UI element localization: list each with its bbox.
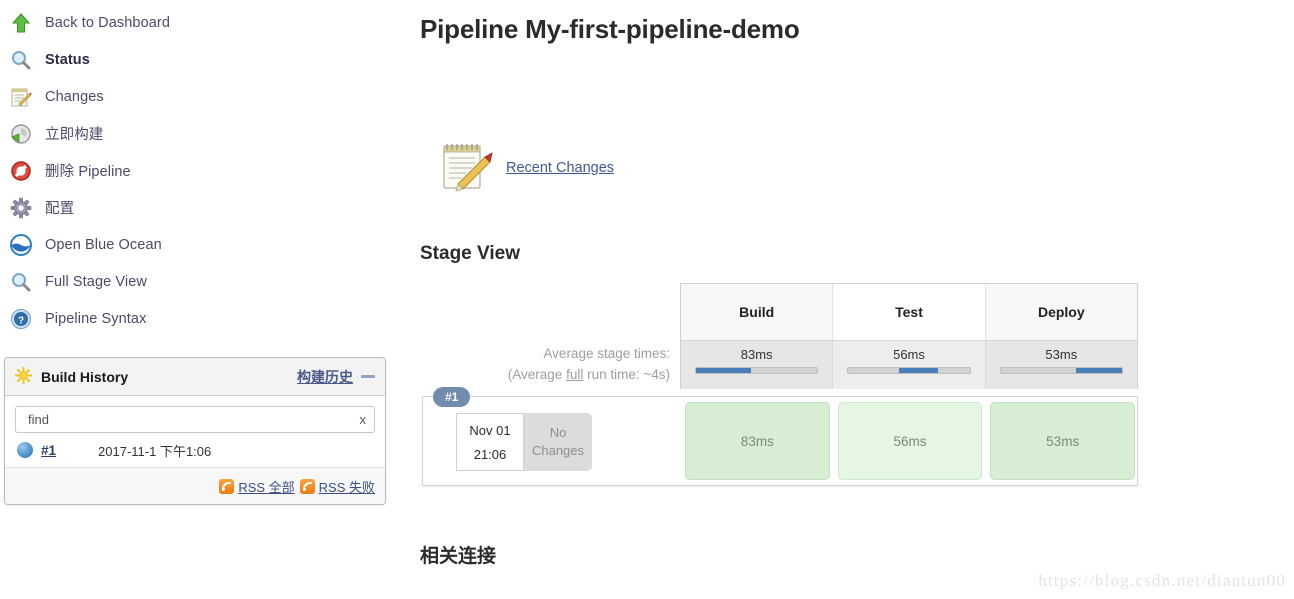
sidebar-item-label: 立即构建 [45, 123, 103, 144]
svg-text:?: ? [18, 315, 24, 326]
sidebar-item-delete-pipeline[interactable]: 删除 Pipeline [4, 152, 390, 189]
build-history-body: x #1 2017-11-1 下午1:06 [5, 396, 385, 468]
notepad-pencil-icon [8, 84, 34, 110]
sidebar-item-build-now[interactable]: 立即构建 [4, 115, 390, 152]
build-status-ball-icon [17, 442, 33, 458]
build-history-cn-link[interactable]: 构建历史 [297, 367, 353, 387]
delete-prohibited-icon [8, 158, 34, 184]
main-content: Pipeline My-first-pipeline-demo [420, 0, 1294, 599]
sidebar-item-label: Changes [45, 89, 104, 105]
page-title: Pipeline My-first-pipeline-demo [420, 14, 1294, 45]
notepad-pencil-icon [440, 140, 494, 195]
stage-header-row: Build Test Deploy [681, 284, 1137, 340]
no-changes-line2: Changes [532, 442, 584, 460]
stage-header-deploy[interactable]: Deploy [986, 284, 1137, 340]
build-history-footer: RSS 全部 RSS 失败 [5, 468, 385, 504]
rss-icon [300, 479, 315, 494]
rss-failed-link[interactable]: RSS 失败 [300, 477, 375, 496]
sidebar-item-label: 配置 [45, 197, 74, 218]
average-bar-fill [696, 368, 751, 373]
average-bar [1000, 367, 1123, 374]
magnifier-icon [8, 269, 34, 295]
average-value: 53ms [1000, 347, 1123, 362]
average-stage-times-label: Average stage times: [420, 343, 670, 364]
sidebar-item-label: 删除 Pipeline [45, 160, 131, 181]
build-history-header-actions: 构建历史 [297, 367, 375, 387]
find-input[interactable] [26, 411, 364, 428]
average-cell-build: 83ms [681, 341, 833, 389]
average-times-row: 83ms 56ms 53ms [681, 340, 1137, 389]
build-history-title: Build History [41, 369, 128, 385]
sidebar-item-open-blue-ocean[interactable]: Open Blue Ocean [4, 226, 390, 263]
average-bar [695, 367, 818, 374]
sidebar-item-label: Status [45, 52, 90, 68]
stage-cells: 83ms 56ms 53ms [681, 397, 1139, 485]
average-value: 83ms [695, 347, 818, 362]
sidebar-item-full-stage-view[interactable]: Full Stage View [4, 263, 390, 300]
stage-header-test[interactable]: Test [833, 284, 985, 340]
related-links-title: 相关连接 [420, 541, 496, 568]
sidebar-item-label: Back to Dashboard [45, 15, 170, 31]
build-date: Nov 01 [469, 423, 510, 438]
stage-cell-deploy[interactable]: 53ms [990, 402, 1135, 480]
stage-view: Average stage times: (Average full run t… [420, 283, 1138, 503]
magnifier-icon [8, 47, 34, 73]
sidebar-item-status[interactable]: Status [4, 41, 390, 78]
stage-cell-build[interactable]: 83ms [685, 402, 830, 480]
average-bar-fill [1076, 368, 1122, 373]
build-number-link[interactable]: #1 [41, 443, 56, 458]
watermark: https://blog.csdn.net/diantun00 [1038, 571, 1286, 591]
rss-failed-label: RSS 失败 [319, 477, 375, 496]
average-bar [847, 367, 970, 374]
sidebar-item-label: Pipeline Syntax [45, 311, 146, 327]
average-cell-deploy: 53ms [986, 341, 1137, 389]
average-full-run-time-label: (Average full run time: ~4s) [420, 364, 670, 385]
sidebar-item-pipeline-syntax[interactable]: ? Pipeline Syntax [4, 300, 390, 337]
average-stage-times-labels: Average stage times: (Average full run t… [420, 343, 670, 385]
recent-changes-link[interactable]: Recent Changes [506, 160, 614, 176]
up-arrow-icon [8, 10, 34, 36]
build-date: 2017-11-1 下午1:06 [98, 441, 211, 460]
build-history-find-wrapper[interactable]: x [15, 406, 375, 433]
stage-view-title: Stage View [420, 243, 1294, 265]
build-number-badge[interactable]: #1 [433, 387, 470, 407]
stage-grid: Build Test Deploy 83ms 56ms 53ms [680, 283, 1138, 389]
stage-cell-test[interactable]: 56ms [838, 402, 983, 480]
sidebar-item-label: Open Blue Ocean [45, 237, 162, 253]
rss-icon [219, 479, 234, 494]
collapse-icon[interactable] [361, 375, 375, 378]
average-value: 56ms [847, 347, 970, 362]
stage-header-build[interactable]: Build [681, 284, 833, 340]
build-datetime-box[interactable]: Nov 01 21:06 [456, 413, 524, 471]
no-changes-box[interactable]: No Changes [524, 413, 592, 471]
gear-icon [8, 195, 34, 221]
build-history-row[interactable]: #1 2017-11-1 下午1:06 [15, 433, 375, 467]
average-cell-test: 56ms [833, 341, 985, 389]
build-run-row: #1 Nov 01 21:06 No Changes 83ms 56ms 53m… [422, 396, 1138, 486]
build-time: 21:06 [474, 447, 507, 462]
sidebar-item-back-to-dashboard[interactable]: Back to Dashboard [4, 4, 390, 41]
clear-find-button[interactable]: x [360, 412, 367, 427]
sidebar-item-changes[interactable]: Changes [4, 78, 390, 115]
sidebar: Back to Dashboard Status Changes 立即构建 删除 [0, 0, 390, 599]
build-history-header: Build History 构建历史 [5, 358, 385, 396]
average-bar-fill [899, 368, 938, 373]
blue-ocean-icon [8, 232, 34, 258]
build-now-icon [8, 121, 34, 147]
weather-sun-icon [15, 367, 32, 387]
rss-all-link[interactable]: RSS 全部 [219, 477, 294, 496]
build-history-panel: Build History 构建历史 x #1 2017-11-1 下午1:06… [4, 357, 386, 505]
sidebar-item-label: Full Stage View [45, 274, 147, 290]
rss-all-label: RSS 全部 [238, 477, 294, 496]
question-help-icon: ? [8, 306, 34, 332]
sidebar-item-configure[interactable]: 配置 [4, 189, 390, 226]
recent-changes-block: Recent Changes [440, 140, 1294, 195]
sidebar-nav: Back to Dashboard Status Changes 立即构建 删除 [0, 0, 390, 337]
no-changes-line1: No [550, 424, 567, 442]
